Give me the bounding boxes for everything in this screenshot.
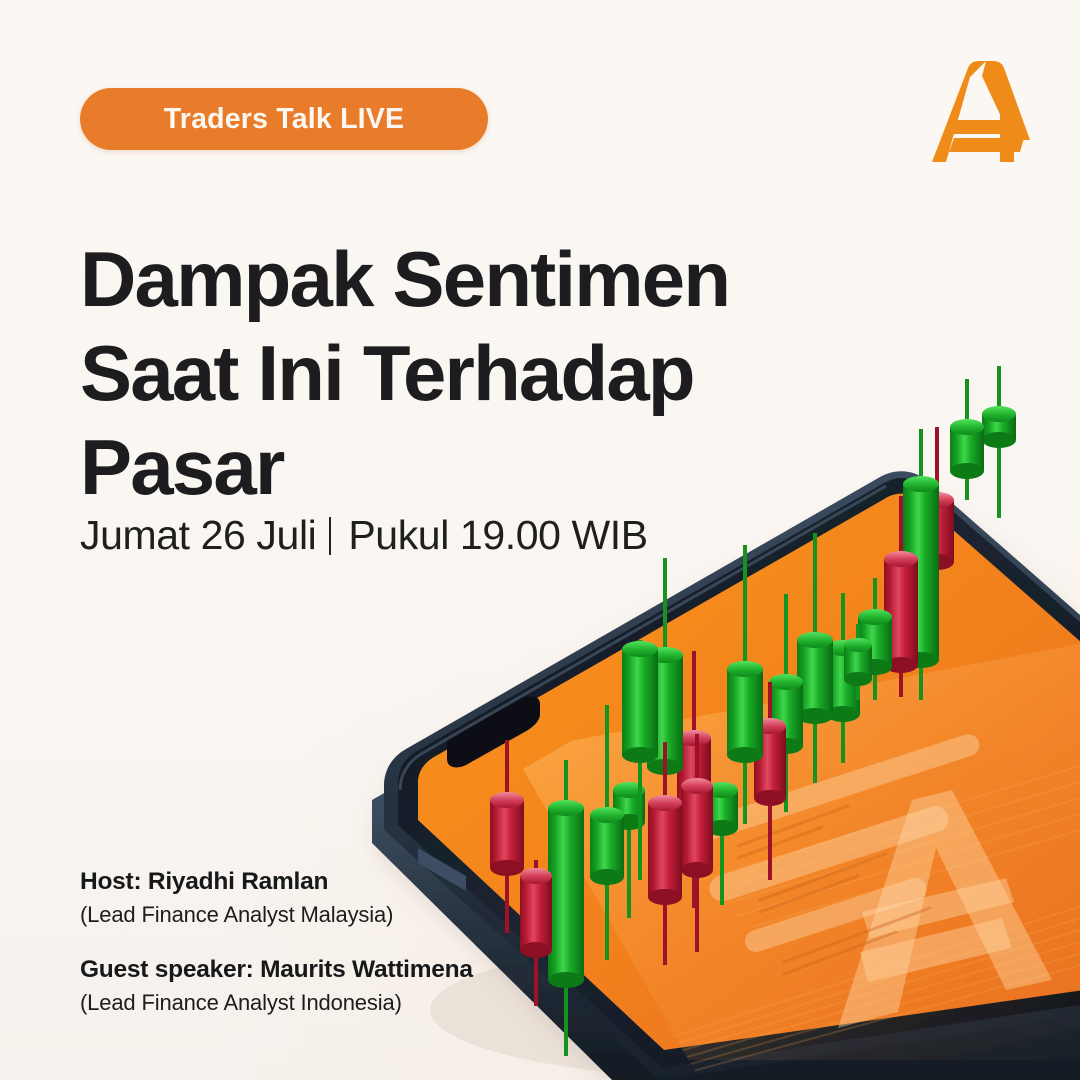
guest-role: (Lead Finance Analyst Indonesia)	[80, 989, 473, 1018]
host-name: Host: Riyadhi Ramlan	[80, 866, 473, 897]
schedule-date: Jumat 26 Juli	[80, 512, 316, 558]
poster-canvas: Traders Talk LIVE Dampak Sentimen Saat I…	[0, 0, 1080, 1080]
schedule-line: Jumat 26 JuliPukul 19.00 WIB	[80, 512, 648, 559]
candle-19-up	[950, 379, 984, 500]
headline-line-1: Dampak Sentimen	[80, 240, 820, 318]
speakers-block: Host: Riyadhi Ramlan (Lead Finance Analy…	[80, 866, 473, 1042]
candle-20-up	[982, 366, 1016, 518]
headline-line-3: Pasar	[80, 428, 820, 506]
schedule-separator	[329, 517, 331, 555]
page-title: Dampak Sentimen Saat Ini Terhadap Pasar	[80, 240, 820, 522]
live-badge-label: Traders Talk LIVE	[164, 103, 404, 136]
live-badge[interactable]: Traders Talk LIVE	[80, 88, 488, 150]
octa-a-monogram-logo	[924, 58, 1036, 170]
headline-line-2: Saat Ini Terhadap	[80, 334, 820, 412]
schedule-time: Pukul 19.00 WIB	[348, 512, 647, 558]
guest-name: Guest speaker: Maurits Wattimena	[80, 954, 473, 985]
host-block: Host: Riyadhi Ramlan (Lead Finance Analy…	[80, 866, 473, 930]
host-role: (Lead Finance Analyst Malaysia)	[80, 901, 473, 930]
guest-block: Guest speaker: Maurits Wattimena (Lead F…	[80, 954, 473, 1018]
